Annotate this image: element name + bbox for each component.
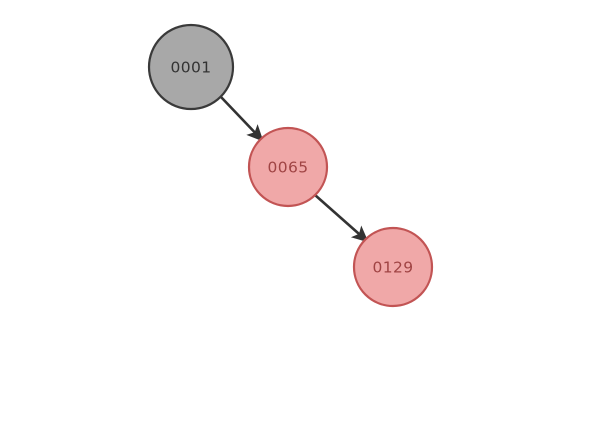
edge-0001-to-0065[interactable] [221,97,262,140]
node-0065[interactable]: 0065 [249,128,327,206]
graph-svg: 0001 0065 0129 [0,0,602,434]
node-label-0129: 0129 [372,259,413,277]
node-label-0065: 0065 [267,159,308,177]
node-label-0001: 0001 [170,59,211,77]
node-group: 0001 0065 0129 [149,25,432,306]
node-0001[interactable]: 0001 [149,25,233,109]
graph-canvas: 0001 0065 0129 [0,0,602,434]
node-0129[interactable]: 0129 [354,228,432,306]
edge-0065-to-0129[interactable] [315,195,367,241]
